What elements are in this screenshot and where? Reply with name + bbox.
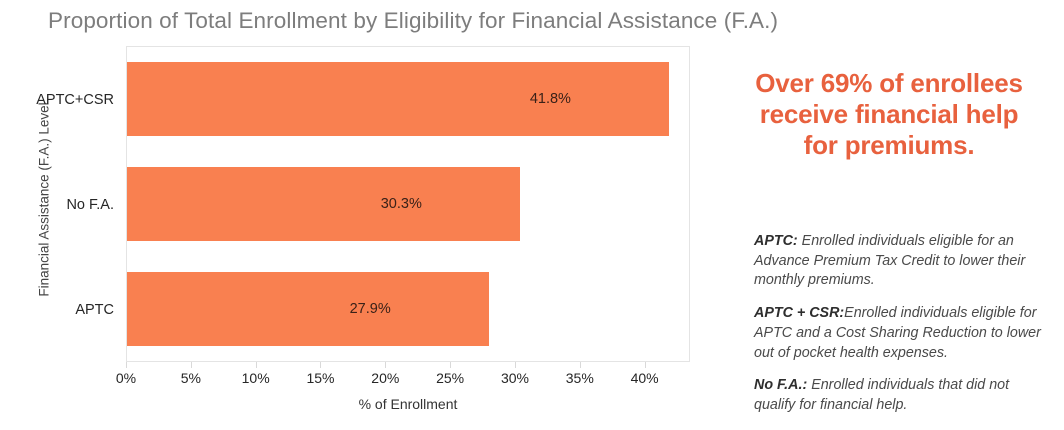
bar-value-label: 27.9% bbox=[350, 301, 391, 317]
bar-value-label: 30.3% bbox=[381, 196, 422, 212]
bar-aptc-csr: 41.8% bbox=[127, 62, 669, 136]
definition-term: No F.A.: bbox=[754, 377, 807, 393]
y-tick-label: No F.A. bbox=[20, 152, 120, 257]
callout-headline: Over 69% of enrollees receive financial … bbox=[716, 68, 1062, 161]
x-tick-label: 10% bbox=[242, 370, 270, 386]
x-tick-label: 5% bbox=[181, 370, 201, 386]
x-axis-title: % of Enrollment bbox=[126, 396, 690, 412]
definition-aptc-csr: APTC + CSR:Enrolled individuals eligible… bbox=[754, 304, 1054, 363]
callout-line-1: Over 69% of enrollees bbox=[716, 68, 1062, 99]
bar-slot: 30.3% bbox=[127, 152, 689, 257]
bar-no-fa: 30.3% bbox=[127, 167, 520, 241]
x-tick-label: 25% bbox=[436, 370, 464, 386]
x-tick-label: 20% bbox=[371, 370, 399, 386]
side-panel: Over 69% of enrollees receive financial … bbox=[710, 0, 1064, 430]
x-tick-mark bbox=[191, 362, 192, 368]
bars-layer: 41.8% 30.3% 27.9% bbox=[127, 47, 689, 361]
plot-area: 41.8% 30.3% 27.9% bbox=[126, 46, 690, 362]
x-tick-mark bbox=[515, 362, 516, 368]
x-tick-mark bbox=[126, 362, 127, 368]
x-tick-label: 30% bbox=[501, 370, 529, 386]
chart-title: Proportion of Total Enrollment by Eligib… bbox=[48, 8, 778, 34]
x-tick-mark bbox=[256, 362, 257, 368]
x-tick-mark bbox=[385, 362, 386, 368]
y-tick-label: APTC bbox=[20, 257, 120, 362]
bar-value-label: 41.8% bbox=[530, 91, 571, 107]
x-tick-label: 0% bbox=[116, 370, 136, 386]
bar-slot: 41.8% bbox=[127, 47, 689, 152]
callout-line-2: receive financial help bbox=[716, 99, 1062, 130]
definition-term: APTC: bbox=[754, 233, 798, 249]
infographic-root: Proportion of Total Enrollment by Eligib… bbox=[0, 0, 1064, 430]
definition-term: APTC + CSR: bbox=[754, 305, 844, 321]
x-tick-mark bbox=[580, 362, 581, 368]
x-tick-mark bbox=[645, 362, 646, 368]
definition-aptc: APTC: Enrolled individuals eligible for … bbox=[754, 232, 1054, 291]
definitions-list: APTC: Enrolled individuals eligible for … bbox=[754, 232, 1054, 429]
x-tick-mark bbox=[450, 362, 451, 368]
definition-no-fa: No F.A.: Enrolled individuals that did n… bbox=[754, 376, 1054, 415]
y-tick-label: APTC+CSR bbox=[20, 47, 120, 152]
y-axis-tick-labels: APTC+CSR No F.A. APTC bbox=[20, 47, 120, 362]
x-tick-mark bbox=[320, 362, 321, 368]
x-tick-label: 40% bbox=[631, 370, 659, 386]
x-tick-label: 15% bbox=[306, 370, 334, 386]
x-tick-label: 35% bbox=[566, 370, 594, 386]
x-axis: 0%5%10%15%20%25%30%35%40% bbox=[126, 362, 690, 372]
chart-panel: Proportion of Total Enrollment by Eligib… bbox=[0, 0, 710, 430]
bar-aptc: 27.9% bbox=[127, 272, 489, 346]
bar-slot: 27.9% bbox=[127, 256, 689, 361]
callout-line-3: for premiums. bbox=[716, 130, 1062, 161]
